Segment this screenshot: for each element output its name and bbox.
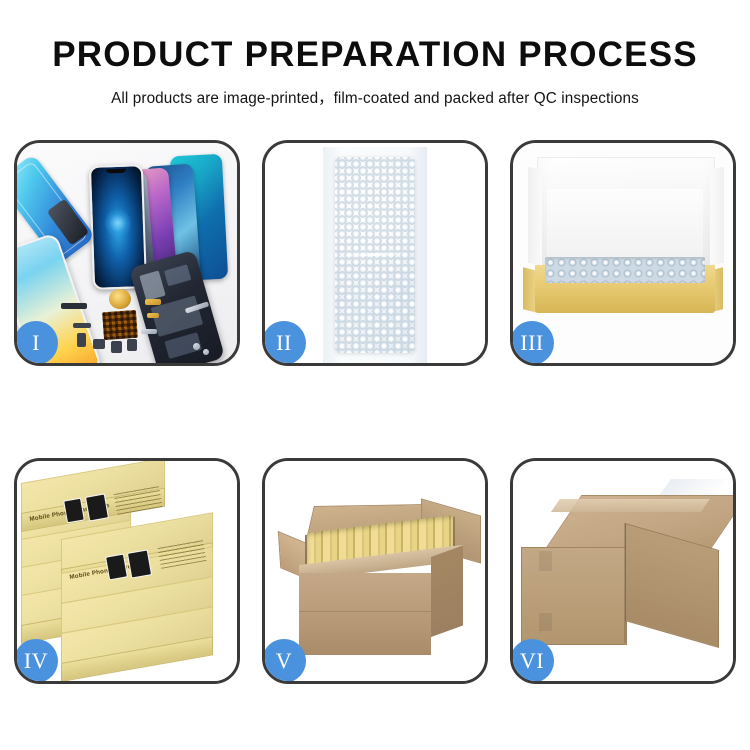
header: PRODUCT PREPARATION PROCESS All products… — [0, 0, 750, 108]
step-image-inner-box: III — [513, 143, 733, 363]
carton-vertical-edge — [624, 523, 626, 643]
step-badge-5: V — [265, 639, 306, 681]
screw-2 — [203, 349, 209, 355]
step-badge-1: I — [17, 321, 58, 363]
packing-tape — [551, 499, 710, 512]
chassis-battery — [139, 270, 165, 301]
carton-front-face — [521, 547, 627, 645]
step-badge-4: IV — [17, 639, 58, 681]
step-image-sealed-carton: VI — [513, 461, 733, 681]
sim-tray — [141, 329, 157, 334]
vibration-motor — [109, 289, 131, 309]
bubble-wrapped-contents — [545, 257, 705, 283]
step-badge-3: III — [513, 321, 554, 363]
step-panel-2: II — [262, 140, 488, 366]
steps-grid: I II — [14, 140, 736, 684]
page-title: PRODUCT PREPARATION PROCESS — [0, 0, 750, 75]
connector-2 — [93, 339, 105, 349]
step-image-open-carton: V — [265, 461, 485, 681]
speaker-mesh — [102, 310, 138, 340]
page-subtitle: All products are image-printed，film-coat… — [0, 75, 750, 108]
connector-3 — [111, 341, 122, 353]
box-product-image-2b — [127, 549, 152, 578]
bubble-wrapped-item — [335, 157, 415, 353]
flex-cable-gold-2 — [147, 313, 159, 318]
box-product-image-1a — [63, 498, 85, 524]
step-panel-4: Mobile Phone Spare Parts Mobile Phone Sp… — [14, 458, 240, 684]
step-panel-6: VI — [510, 458, 736, 684]
carton-handle-cut-bottom — [539, 613, 552, 631]
step-image-product-parts: I — [17, 143, 237, 363]
step-image-bubble-wrap: II — [265, 143, 485, 363]
step-badge-2: II — [265, 321, 306, 363]
box-product-image-1b — [85, 493, 109, 521]
stacked-box-front-4 — [61, 633, 211, 681]
step-panel-5: V — [262, 458, 488, 684]
chassis-camera-module — [164, 264, 191, 286]
box-product-image-2a — [105, 554, 128, 581]
step-panel-1: I — [14, 140, 240, 366]
carton-handle-cut-top — [539, 551, 552, 571]
foam-insert — [547, 189, 703, 257]
earpiece-speaker — [61, 303, 87, 309]
box-stack: Mobile Phone Spare Parts Mobile Phone Sp… — [21, 477, 237, 673]
screw-1 — [193, 343, 200, 350]
product-preparation-infographic: PRODUCT PREPARATION PROCESS All products… — [0, 0, 750, 750]
step-image-stacked-boxes: Mobile Phone Spare Parts Mobile Phone Sp… — [17, 461, 237, 681]
carton-front-face — [299, 573, 431, 655]
camera-lens — [127, 339, 137, 351]
flex-cable-dark-1 — [73, 323, 91, 328]
flex-cable-gold-1 — [145, 299, 161, 305]
phone-notch — [106, 169, 126, 174]
carton-seam — [299, 611, 431, 612]
connector-1 — [77, 333, 86, 347]
carton-side-face — [431, 545, 463, 637]
step-badge-6: VI — [513, 639, 554, 681]
step-panel-3: III — [510, 140, 736, 366]
